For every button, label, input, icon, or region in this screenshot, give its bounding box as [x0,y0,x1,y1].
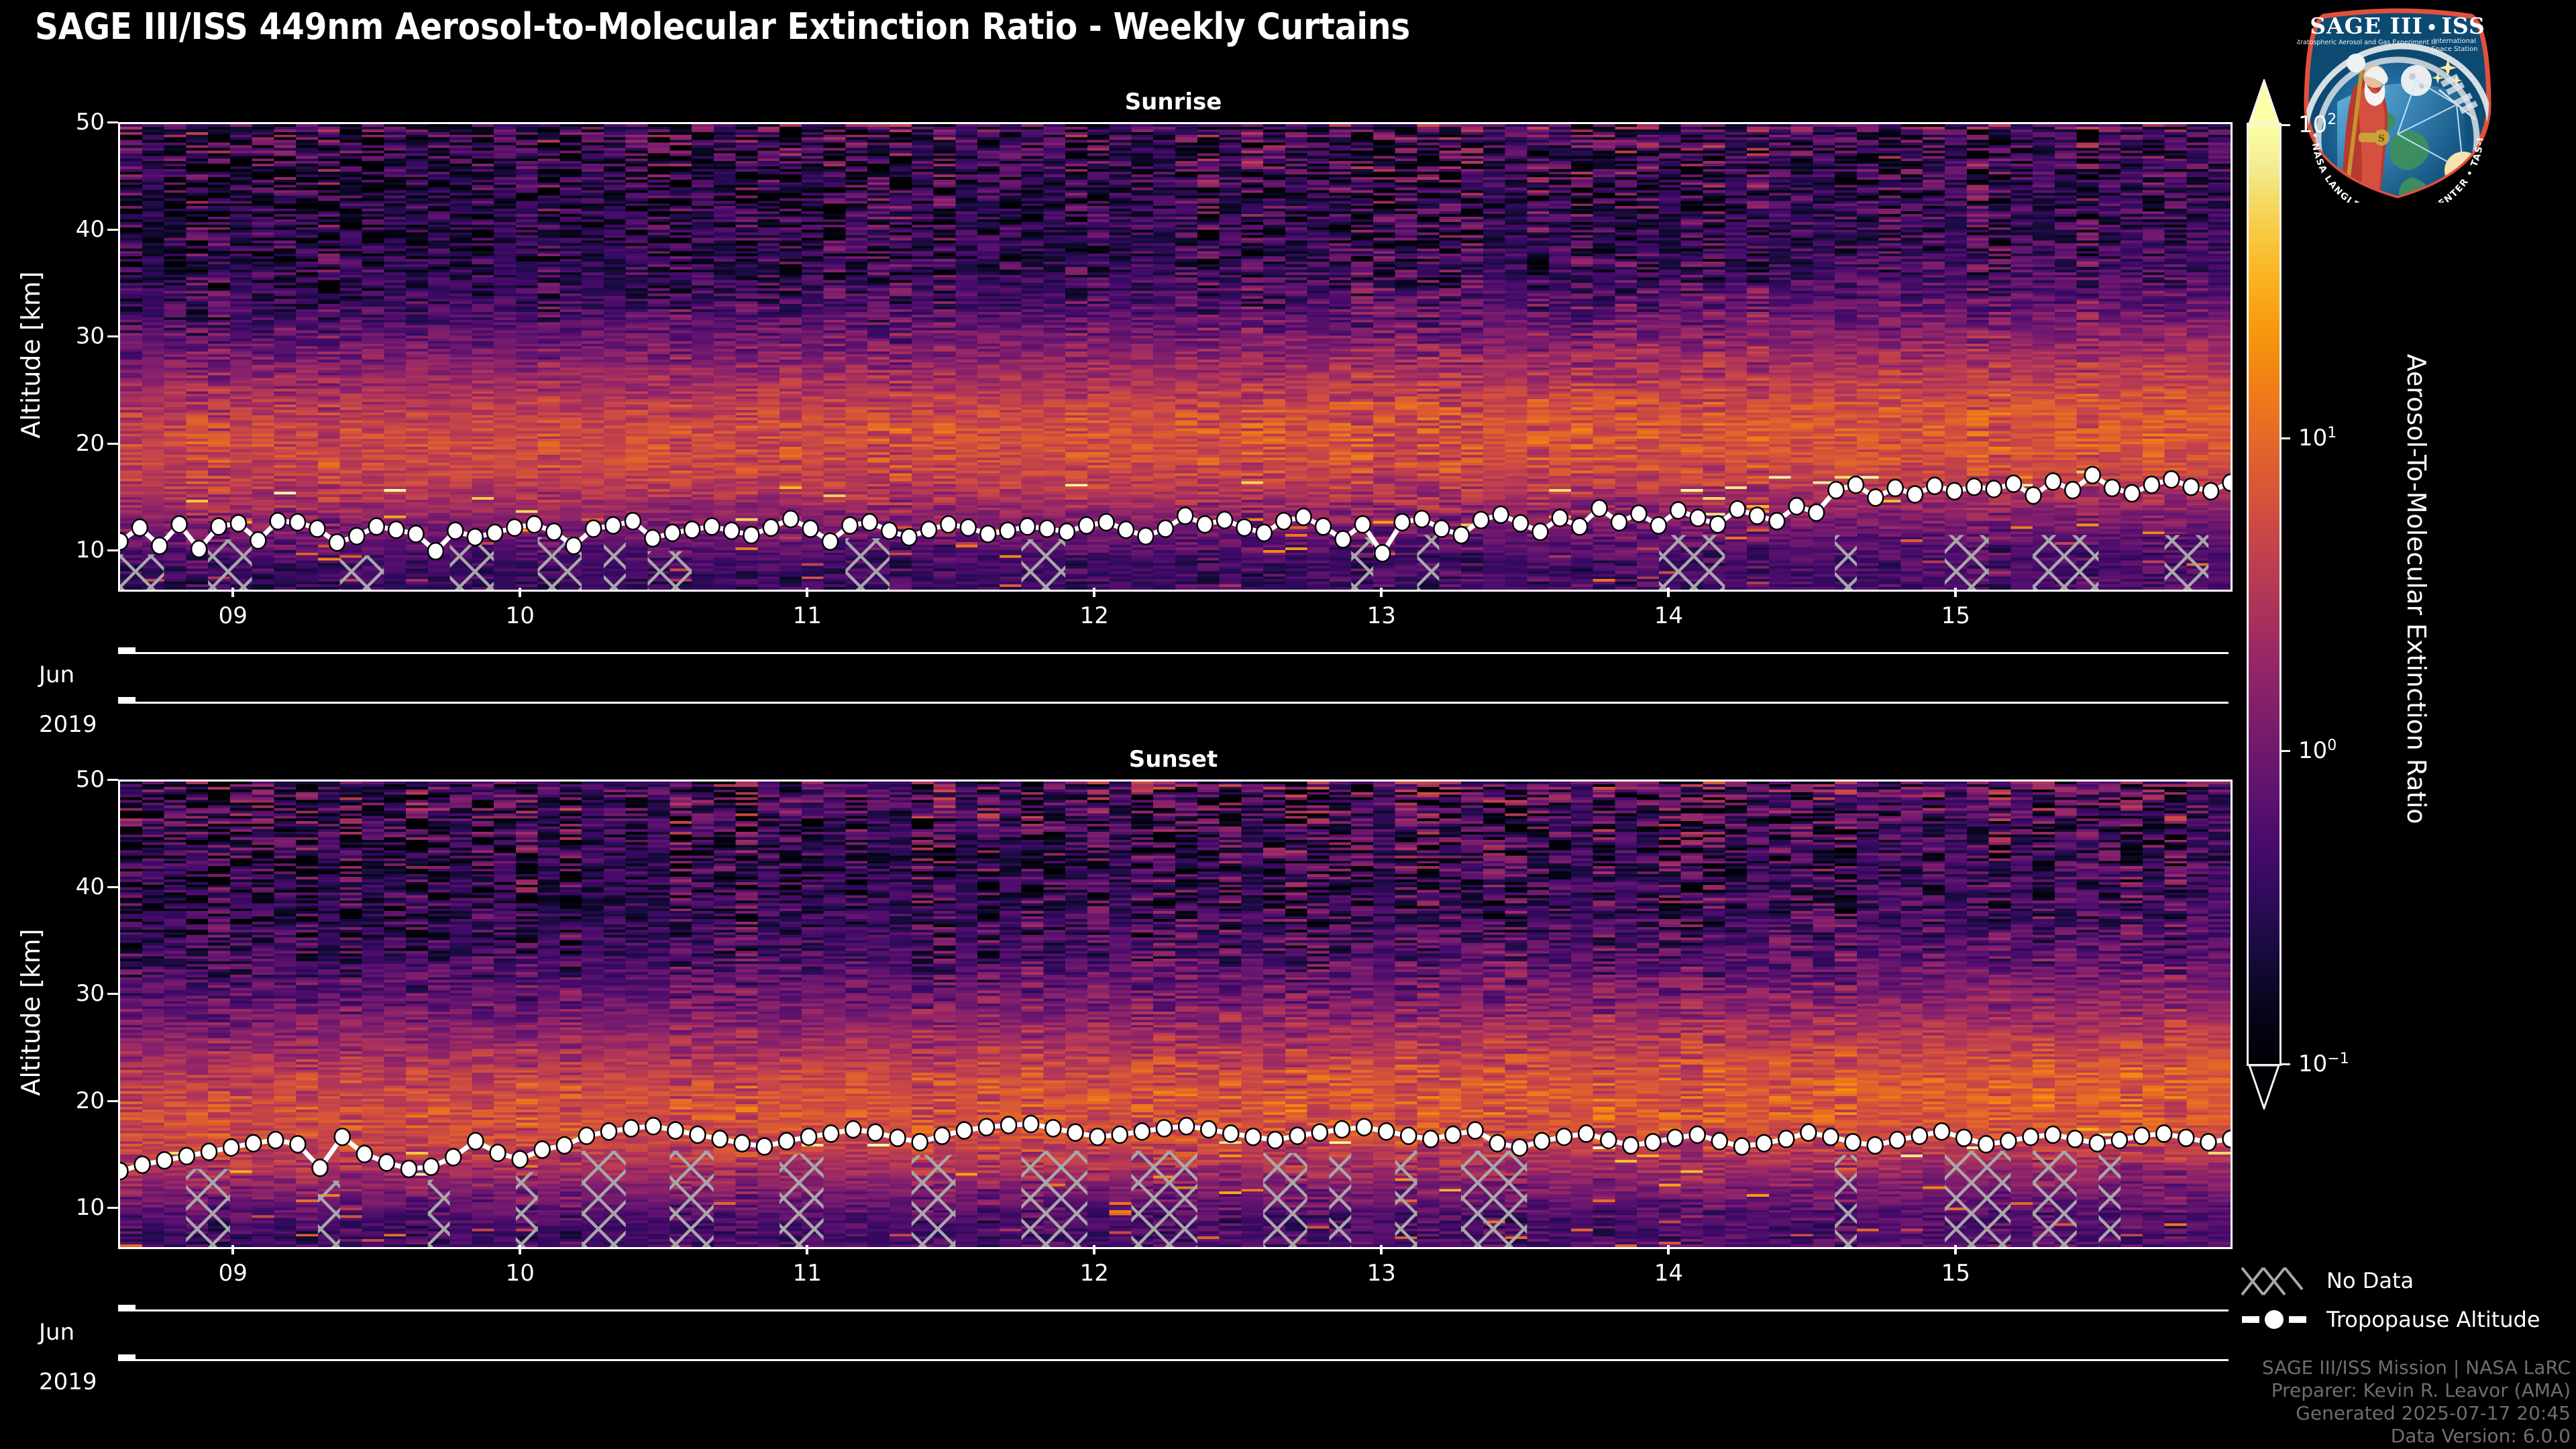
x-tick-mark [806,1245,808,1254]
tropopause-point [779,1133,794,1150]
tropopause-point [1356,1119,1372,1136]
legend-item-no-data: No Data [2241,1261,2576,1300]
no-data-region [780,1154,824,1247]
tropopause-point [513,1151,528,1168]
tropopause-point [1534,1133,1550,1150]
tropopause-point [1978,1136,1994,1152]
tropopause-point [1068,1124,1083,1141]
x-tick-mark [519,1245,521,1254]
tropopause-point [601,1123,616,1140]
x-level-rule-year [118,1359,2229,1361]
tropopause-point [557,1137,572,1154]
tropopause-point [2000,1133,2016,1150]
footer-line-version: Data Version: 6.0.0 [2262,1425,2571,1448]
plot-area-sunset [118,780,2233,1249]
no-data-region [912,1155,956,1247]
x-level-tick-month [118,1305,136,1311]
tropopause-point [268,1132,283,1148]
tropopause-point [1379,1123,1394,1140]
colorbar-title: Aerosol-To-Molecular Extinction Ratio [2402,354,2431,824]
tropopause-point [667,1122,683,1139]
y-tick-label-0: 10 [31,1194,105,1221]
no-data-region [428,1180,450,1248]
tropopause-point [1512,1139,1527,1156]
no-data-region [2098,1153,2121,1247]
tropopause-marker-icon [2241,1300,2314,1339]
tropopause-point [1712,1133,1727,1150]
tropopause-point [1556,1128,1572,1145]
colorbar-tick-mark [2279,437,2290,439]
tropopause-point [2112,1132,2127,1148]
tropopause-point [290,1136,305,1152]
tropopause-point [912,1134,928,1150]
tropopause-point [135,1157,150,1173]
tropopause-point [157,1152,172,1169]
tropopause-point [201,1144,217,1161]
tropopause-point [1179,1118,1194,1134]
tropopause-point [1445,1126,1460,1143]
no-data-region [2033,1150,2077,1247]
tropopause-point [1490,1135,1505,1152]
tropopause-point [1245,1128,1260,1145]
tropopause-point [735,1135,750,1152]
legend: No Data Tropopause Altitude [2241,1261,2576,1339]
tropopause-point [1290,1128,1305,1144]
x-tick-label-day-2: 11 [793,1260,822,1287]
colorbar-tick-label-1: 101 [2298,424,2337,451]
tropopause-point [1912,1128,1927,1144]
tropopause-point [1646,1134,1661,1150]
footer-line-generated: Generated 2025-07-17 20:45 [2262,1402,2571,1425]
tropopause-point [1690,1126,1705,1143]
tropopause-point [2200,1134,2216,1150]
colorbar-tick-label-3: 10−1 [2298,1051,2349,1077]
tropopause-point [2023,1128,2039,1145]
tropopause-point [579,1128,594,1144]
tropopause-point [423,1159,439,1175]
x-level-tick-year [118,1354,136,1360]
x-tick-mark [1093,1245,1095,1254]
tropopause-point [445,1149,461,1166]
footer-line-preparer: Preparer: Kevin R. Leavor (AMA) [2262,1379,2571,1402]
x-tick-mark [1380,1245,1383,1254]
x-level-label-month: Jun [39,1319,74,1346]
x-tick-label-day-1: 10 [506,1260,535,1287]
hatch-swatch-icon [2241,1261,2314,1300]
y-tick-mark [107,1100,118,1102]
tropopause-point [179,1148,195,1165]
tropopause-point [934,1128,950,1144]
legend-label-tropopause: Tropopause Altitude [2326,1307,2540,1332]
tropopause-point [1734,1138,1750,1155]
tropopause-point [223,1139,239,1156]
tropopause-point [2156,1125,2171,1142]
tropopause-point [246,1135,261,1152]
y-tick-mark [107,779,118,781]
tropopause-point [1223,1125,1238,1142]
tropopause-point [1112,1126,1128,1143]
colorbar-tick-label-0: 102 [2298,111,2337,138]
no-data-region [318,1181,340,1247]
tropopause-point [401,1161,417,1177]
tropopause-point [313,1159,328,1176]
tropopause-point [1423,1130,1438,1147]
colorbar-extend-bottom-arrow [2248,1064,2280,1110]
tropopause-point [1334,1121,1350,1138]
x-level-rule-month [118,1309,2229,1311]
tropopause-point [468,1133,483,1150]
no-data-region [1461,1150,1527,1247]
tropopause-point [1268,1132,1283,1148]
tropopause-point [1134,1123,1150,1140]
no-data-region [1263,1153,1307,1247]
y-axis-title-sunset: Altitude [km] [16,878,46,1146]
no-data-region [1835,1155,1857,1247]
tropopause-point [867,1124,883,1141]
no-data-region [516,1172,538,1247]
tropopause-point [2178,1130,2194,1146]
no-data-region [669,1150,714,1247]
tropopause-point [1045,1120,1061,1136]
y-tick-label-4: 50 [31,766,105,793]
tropopause-point [1890,1132,1905,1148]
tropopause-point [690,1126,706,1143]
tropopause-point [490,1144,506,1161]
tropopause-point [1578,1125,1594,1142]
tropopause-point [845,1121,861,1138]
y-tick-mark [107,993,118,995]
tropopause-point [1623,1137,1638,1154]
colorbar-tick-label-2: 100 [2298,737,2337,764]
tropopause-point [1312,1124,1328,1141]
tropopause-point [757,1138,772,1155]
tropopause-point [1001,1117,1016,1134]
x-level-label-year: 2019 [39,1368,97,1395]
no-data-region [582,1150,626,1247]
y-tick-mark [107,1207,118,1209]
tropopause-point [1601,1132,1616,1148]
tropopause-point [1090,1128,1106,1145]
tropopause-point [535,1141,550,1158]
tropopause-point [1756,1135,1772,1152]
x-tick-label-day-5: 14 [1654,1260,1683,1287]
tropopause-point [1468,1122,1483,1139]
legend-item-tropopause: Tropopause Altitude [2241,1300,2576,1339]
tropopause-point [2134,1128,2149,1144]
no-data-region [186,1169,230,1248]
overlay-sunset [120,782,2231,1247]
no-data-hatch-group [186,1150,2121,1247]
tropopause-point [1934,1123,1949,1140]
tropopause-point [823,1125,839,1142]
tropopause-point [2045,1126,2061,1143]
panel-title-sunset: Sunset [0,746,2347,773]
colorbar-tick-mark [2279,1063,2290,1065]
colorbar-tick-mark [2279,750,2290,752]
tropopause-point [1845,1134,1861,1150]
x-tick-mark [1954,1245,1957,1254]
panel-sunset: Sunset1020304050Altitude [km]09101112131… [0,0,2576,1449]
x-tick-label-day-3: 12 [1080,1260,1109,1287]
tropopause-point [1956,1130,1972,1146]
no-data-region [1329,1150,1351,1247]
tropopause-point [2090,1135,2105,1152]
tropopause-point [1668,1130,1683,1146]
tropopause-point [979,1119,994,1136]
tropopause-point [1157,1120,1172,1136]
colorbar-tick-mark [2279,124,2290,126]
x-tick-label-day-4: 13 [1367,1260,1396,1287]
tropopause-point [801,1128,816,1145]
footer-credits: SAGE III/ISS Mission | NASA LaRC Prepare… [2262,1356,2571,1448]
tropopause-point [357,1146,372,1163]
colorbar-gradient [2249,125,2279,1064]
tropopause-point [335,1128,350,1145]
legend-label-no-data: No Data [2326,1268,2414,1293]
tropopause-point [712,1130,728,1147]
tropopause-point [1801,1124,1816,1141]
colorbar: 10210110010−1 Aerosol-To-Molecular Extin… [2249,79,2530,1112]
tropopause-point [2223,1130,2231,1147]
no-data-region [1022,1150,1087,1247]
no-data-region [1132,1150,1197,1247]
tropopause-point [957,1122,972,1139]
tropopause-point [1823,1128,1838,1145]
tropopause-point [623,1120,639,1136]
tropopause-point [645,1118,661,1134]
x-tick-label-day-6: 15 [1941,1260,1970,1287]
figure-canvas: SAGE III/ISS 449nm Aerosol-to-Molecular … [0,0,2576,1449]
footer-line-mission: SAGE III/ISS Mission | NASA LaRC [2262,1356,2571,1379]
tropopause-point [1023,1116,1038,1132]
tropopause-point [1401,1128,1416,1144]
y-tick-mark [107,886,118,888]
colorbar-extend-top-arrow [2248,79,2280,125]
tropopause-point [1778,1130,1794,1147]
x-tick-mark [1667,1245,1670,1254]
no-data-region [1945,1150,2010,1247]
x-tick-mark [231,1245,234,1254]
tropopause-point [2068,1130,2083,1147]
tropopause-point [120,1163,128,1179]
tropopause-point [1201,1121,1216,1138]
x-tick-label-day-0: 09 [219,1260,248,1287]
no-data-region [1395,1150,1417,1247]
tropopause-point [1868,1137,1883,1154]
tropopause-point [379,1155,394,1171]
tropopause-point [890,1130,906,1146]
